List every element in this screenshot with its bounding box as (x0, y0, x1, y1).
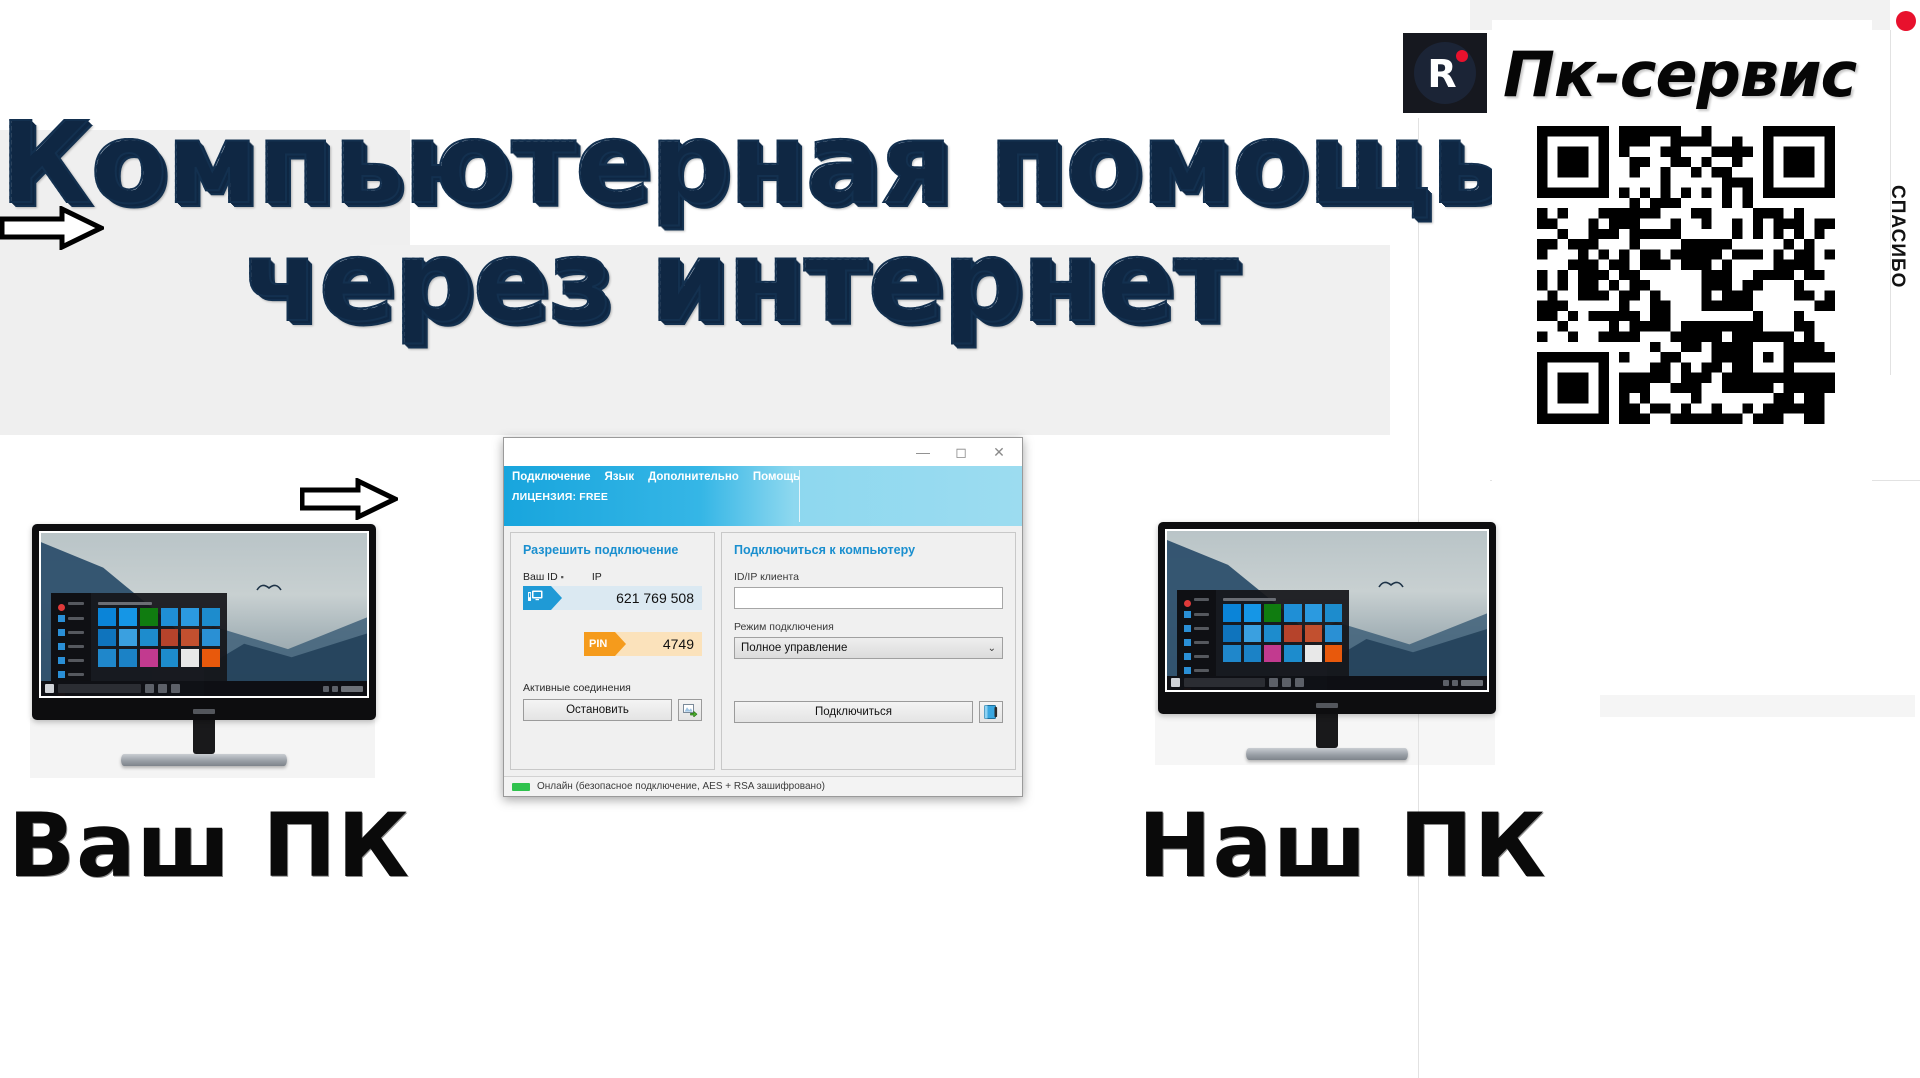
monitor-glyph-icon (528, 590, 543, 603)
status-text: Онлайн (безопасное подключение, AES + RS… (537, 781, 825, 792)
monitor-icon (523, 586, 551, 610)
monitor-screen (1165, 529, 1489, 692)
menu-item-language[interactable]: Язык (605, 471, 635, 483)
client-id-label: ID/IP клиента (734, 571, 1003, 583)
menu-item-connection[interactable]: Подключение (512, 471, 591, 483)
monitor-brand-logo: acer (1319, 703, 1335, 709)
stop-button[interactable]: Остановить (523, 699, 672, 721)
bird-icon (256, 582, 282, 592)
taskbar (1167, 676, 1487, 690)
monitor-stand-neck (1316, 714, 1338, 748)
brand-name: Пк-сервис (1503, 38, 1856, 111)
brand-logo-icon: R (1403, 33, 1487, 113)
arrow-right-icon-corner (0, 206, 104, 250)
window-titlebar: — ◻ ✕ (504, 438, 1022, 466)
label-your-pc: Ваш ПК (8, 794, 410, 897)
taskbar (41, 681, 367, 696)
chevron-down-icon: ⌄ (988, 643, 996, 654)
bird-icon (1378, 579, 1404, 589)
allow-connection-title: Разрешить подключение (523, 543, 702, 557)
monitor-screen (39, 531, 369, 698)
app-header: Подключение Язык Дополнительно Помощь ЛИ… (504, 466, 1022, 526)
app-body: Разрешить подключение Ваш ID ▪ IP (504, 526, 1022, 776)
allow-actions-row: Остановить (523, 699, 702, 721)
maximize-button[interactable]: ◻ (942, 439, 980, 465)
red-dot-icon (1896, 11, 1916, 31)
monitor-bezel: acer (1158, 522, 1496, 714)
connect-button[interactable]: Подключиться (734, 701, 973, 723)
svg-text:R: R (1427, 52, 1456, 96)
monitor-our-pc: acer (1158, 522, 1496, 760)
address-book-icon-button[interactable] (979, 701, 1003, 723)
pin-field[interactable]: PIN 4749 (584, 632, 702, 656)
status-bar: Онлайн (безопасное подключение, AES + RS… (504, 776, 1022, 796)
qr-code[interactable] (1537, 126, 1835, 424)
arrow-right-icon-your-to-app (300, 478, 398, 520)
close-button[interactable]: ✕ (980, 439, 1018, 465)
connection-mode-select[interactable]: Полное управление ⌄ (734, 637, 1003, 659)
license-badge: ЛИЦЕНЗИЯ: FREE (504, 483, 1022, 503)
allow-connection-panel: Разрешить подключение Ваш ID ▪ IP (510, 532, 715, 770)
background-plate-subheadline (370, 245, 1390, 435)
menu-bar: Подключение Язык Дополнительно Помощь (504, 466, 1022, 483)
pin-row: PIN 4749 (523, 632, 702, 656)
your-id-field[interactable]: 621 769 508 (523, 586, 702, 610)
address-book-icon (984, 705, 998, 719)
minimize-button[interactable]: — (904, 439, 942, 465)
client-id-input[interactable] (734, 587, 1003, 609)
connect-panel-title: Подключиться к компьютеру (734, 543, 1003, 557)
monitor-your-pc: acer (32, 524, 376, 766)
online-status-indicator-icon (512, 783, 530, 791)
connection-mode-value: Полное управление (741, 642, 847, 654)
your-id-value: 621 769 508 (551, 586, 702, 610)
label-our-pc: Наш ПК (1138, 794, 1547, 897)
export-session-icon-button[interactable] (678, 699, 702, 721)
monitor-bezel: acer (32, 524, 376, 720)
monitor-brand-logo: acer (196, 709, 212, 715)
ip-label: IP (592, 571, 602, 583)
screen-forward-icon (683, 704, 698, 717)
menu-item-advanced[interactable]: Дополнительно (648, 471, 739, 483)
pin-value: 4749 (615, 632, 702, 656)
background-plate-headline (0, 130, 410, 435)
connect-to-computer-panel: Подключиться к компьютеру ID/IP клиента … (721, 532, 1016, 770)
start-menu (51, 593, 227, 681)
pin-tag: PIN (584, 632, 615, 656)
id-column-headers: Ваш ID ▪ IP (523, 571, 702, 583)
connect-actions-row: Подключиться (734, 701, 1003, 723)
active-connections-label: Активные соединения (523, 682, 702, 694)
start-menu (1177, 590, 1350, 676)
menu-item-help[interactable]: Помощь (753, 471, 800, 483)
monitor-stand-base (1246, 748, 1408, 760)
background-plate-bottom-right (1600, 695, 1915, 717)
monitor-stand-neck (193, 720, 215, 754)
your-id-label: Ваш ID ▪ (523, 571, 564, 583)
remote-access-app-window: — ◻ ✕ Подключение Язык Дополнительно Пом… (503, 437, 1023, 797)
monitor-stand-base (121, 754, 286, 766)
thanks-label: СПАСИБО (1886, 185, 1908, 288)
connection-mode-label: Режим подключения (734, 621, 1003, 633)
